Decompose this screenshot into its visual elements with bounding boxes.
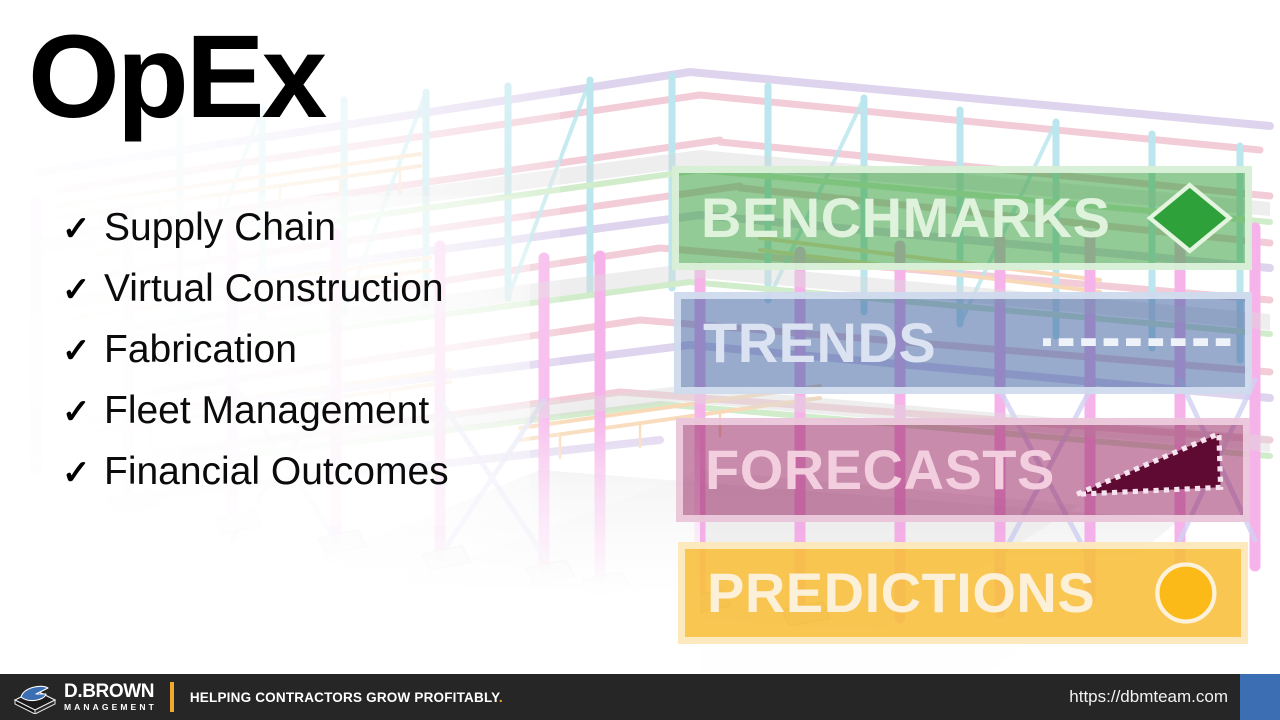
brand-block: D.BROWN MANAGEMENT bbox=[64, 682, 157, 712]
bar-forecasts-label: FORECASTS bbox=[705, 442, 1055, 498]
dashed-line-icon bbox=[1043, 299, 1233, 387]
footer-tagline-text: HELPING CONTRACTORS GROW PROFITABLY bbox=[190, 690, 499, 705]
footer-tagline: HELPING CONTRACTORS GROW PROFITABLY. bbox=[190, 690, 503, 705]
bullet-list: ✓ Supply Chain ✓ Virtual Construction ✓ … bbox=[62, 206, 532, 511]
list-item: ✓ Supply Chain bbox=[62, 206, 532, 267]
list-item: ✓ Fleet Management bbox=[62, 389, 532, 450]
footer-accent-block bbox=[1240, 674, 1280, 720]
list-item-label: Fleet Management bbox=[104, 389, 429, 433]
footer-divider bbox=[170, 682, 174, 712]
bar-benchmarks: BENCHMARKS bbox=[672, 166, 1252, 270]
list-item-label: Financial Outcomes bbox=[104, 450, 449, 494]
list-item-label: Virtual Construction bbox=[104, 267, 444, 311]
footer-tagline-dot: . bbox=[499, 690, 503, 705]
check-icon: ✓ bbox=[62, 456, 104, 490]
check-icon: ✓ bbox=[62, 395, 104, 429]
dbrown-swoosh-logo-icon bbox=[12, 680, 58, 714]
forecast-cone-icon bbox=[1041, 425, 1231, 515]
check-icon: ✓ bbox=[62, 334, 104, 368]
bar-trends-label: TRENDS bbox=[703, 315, 936, 371]
list-item-label: Supply Chain bbox=[104, 206, 336, 250]
check-icon: ✓ bbox=[62, 273, 104, 307]
circle-icon bbox=[1039, 549, 1229, 637]
footer-bar: D.BROWN MANAGEMENT HELPING CONTRACTORS G… bbox=[0, 674, 1280, 720]
brand-name: D.BROWN bbox=[64, 682, 157, 701]
list-item: ✓ Financial Outcomes bbox=[62, 450, 532, 511]
list-item: ✓ Virtual Construction bbox=[62, 267, 532, 328]
list-item-label: Fabrication bbox=[104, 328, 297, 372]
slide: OpEx ✓ Supply Chain ✓ Virtual Constructi… bbox=[0, 0, 1280, 720]
list-item: ✓ Fabrication bbox=[62, 328, 532, 389]
bar-predictions-label: PREDICTIONS bbox=[707, 565, 1095, 621]
diamond-icon bbox=[1043, 173, 1233, 263]
bar-forecasts: FORECASTS bbox=[676, 418, 1250, 522]
bar-predictions: PREDICTIONS bbox=[678, 542, 1248, 644]
page-title: OpEx bbox=[28, 18, 324, 136]
footer-url[interactable]: https://dbmteam.com bbox=[1069, 687, 1228, 707]
check-icon: ✓ bbox=[62, 212, 104, 246]
brand-subtitle: MANAGEMENT bbox=[64, 703, 157, 712]
bar-trends: TRENDS bbox=[674, 292, 1252, 394]
